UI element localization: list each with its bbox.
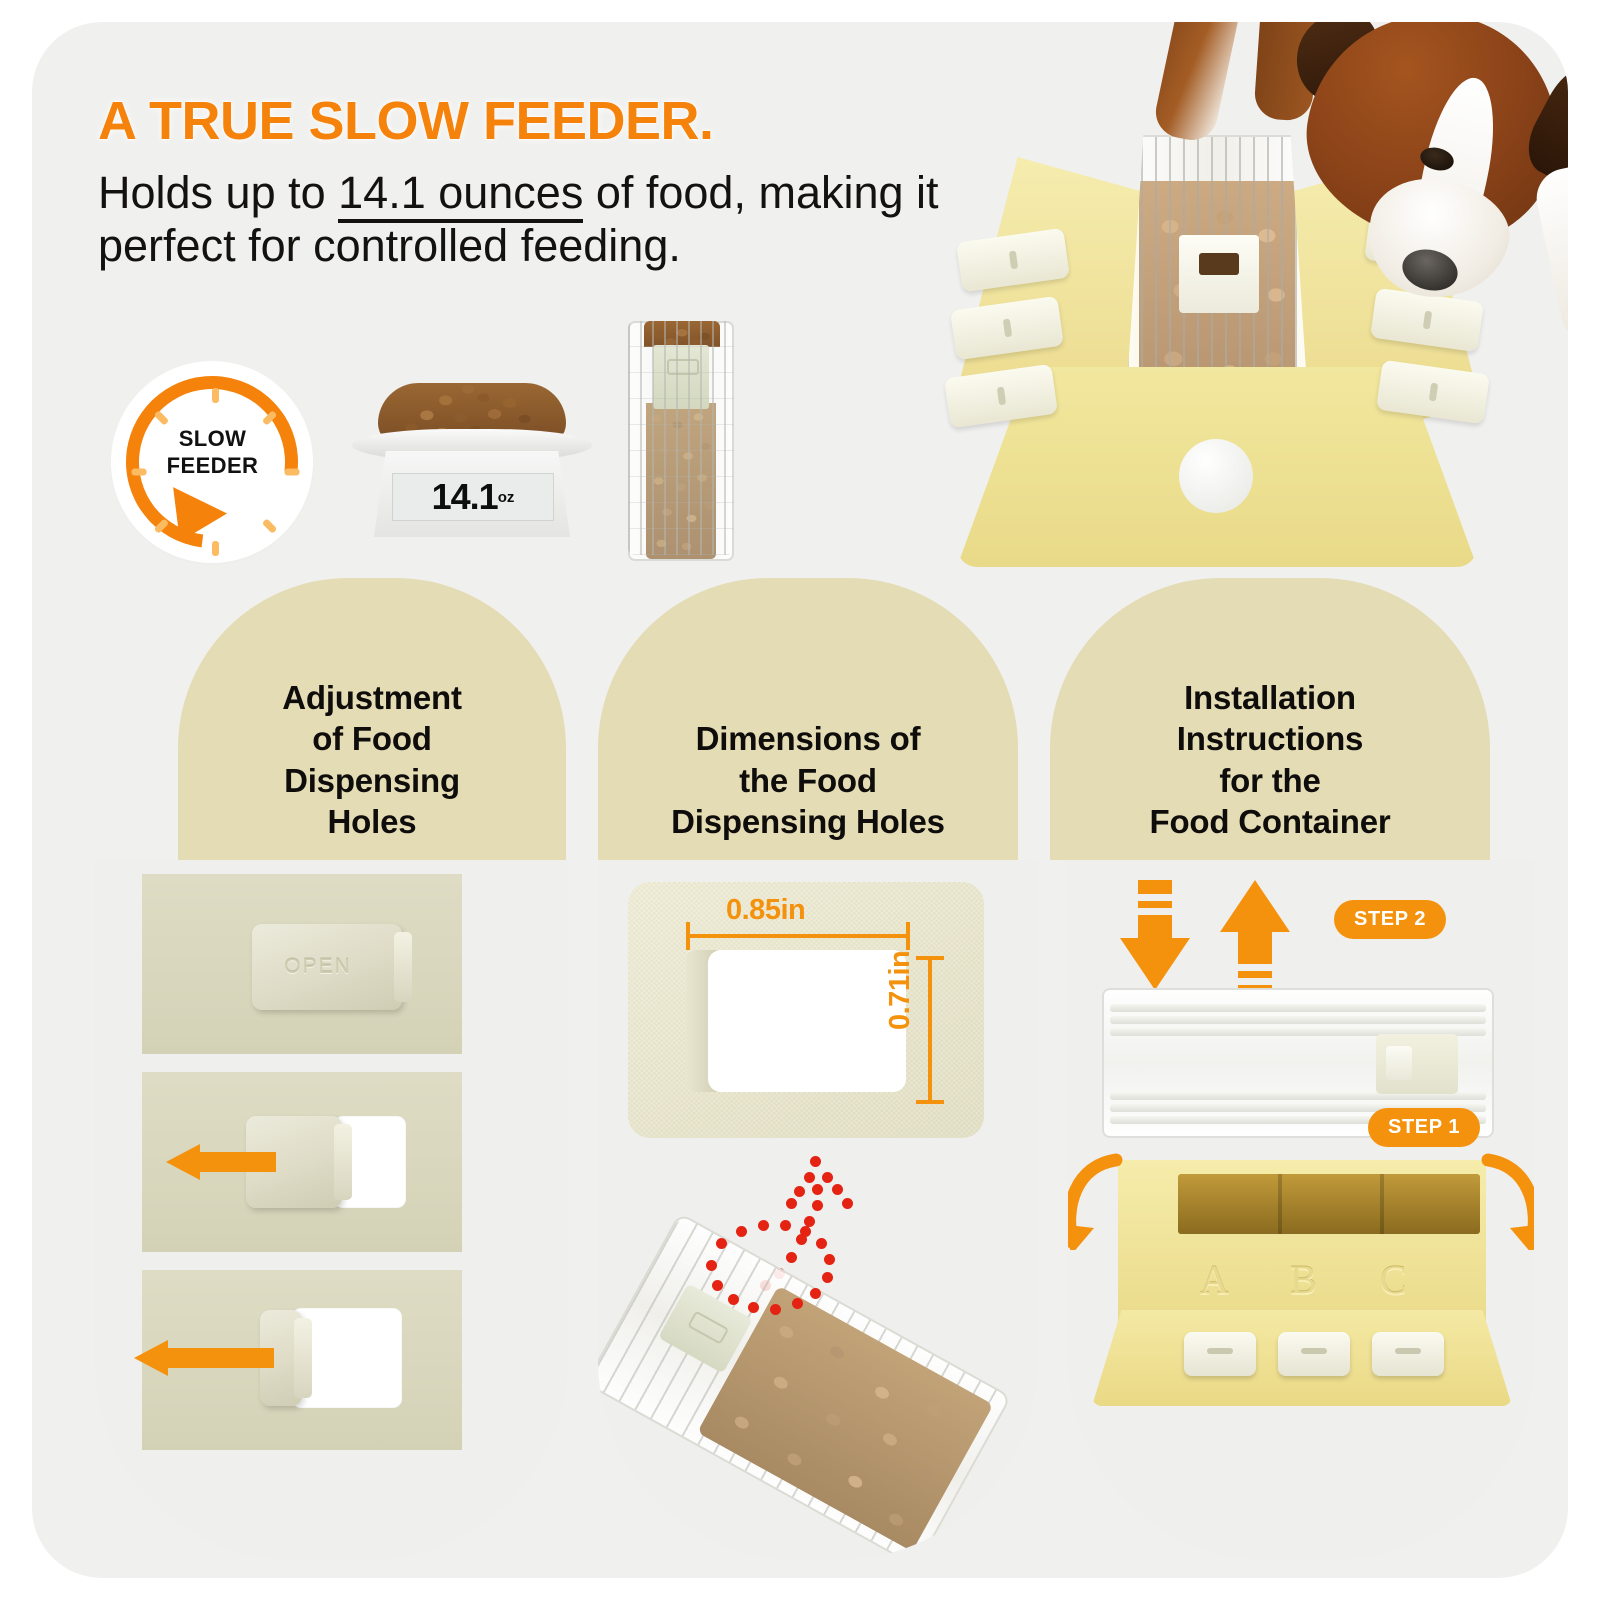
height-dim-tick: [916, 956, 944, 960]
slider-tab: [294, 1318, 312, 1398]
tray-letter-a: A: [1200, 1256, 1229, 1303]
clock-tick: [212, 541, 219, 556]
badge-label-line1: SLOW: [110, 426, 315, 453]
feeder-tray: A B C: [1092, 1160, 1512, 1410]
width-dimension-label: 0.85in: [726, 894, 805, 927]
container-door: [653, 345, 709, 409]
tray-slider-b: [1278, 1332, 1350, 1376]
tray-cavity: [1178, 1174, 1480, 1234]
adjustment-step-1: OPEN: [142, 874, 462, 1054]
arrow-shaft: [198, 1152, 276, 1172]
dog-photo: [1072, 22, 1568, 338]
infographic-card: A TRUE SLOW FEEDER. Holds up to 14.1 oun…: [32, 22, 1568, 1578]
remove-up-arrow-icon: [1220, 880, 1290, 990]
section-title: InstallationInstructionsfor theFood Cont…: [1149, 677, 1390, 842]
insert-down-arrow-icon: [1120, 880, 1190, 990]
arrow-stripe: [1138, 894, 1172, 901]
tray-letter-b: B: [1290, 1256, 1317, 1303]
arrow-head: [1220, 880, 1290, 932]
container-shell: [598, 1212, 1012, 1560]
badge-label-line2: FEEDER: [110, 453, 315, 480]
tray-letter-c: C: [1380, 1256, 1407, 1303]
arrow-shaft: [166, 1348, 274, 1368]
tray-slider-a: [1184, 1332, 1256, 1376]
arrow-head: [1120, 938, 1190, 990]
food-container-tilted: [608, 1160, 1028, 1540]
adjustment-step-2: [142, 1072, 462, 1252]
dog-leg: [1151, 22, 1243, 145]
detail-panels: OPEN: [32, 860, 1568, 1578]
section-title: Dimensions ofthe FoodDispensing Holes: [671, 718, 945, 842]
width-dim-tick: [686, 922, 690, 950]
slow-feeder-badge: SLOW FEEDER: [110, 364, 320, 579]
panel-adjustment: OPEN: [94, 860, 568, 1560]
subhead-capacity-underlined: 14.1 ounces: [338, 167, 583, 223]
section-header-installation: InstallationInstructionsfor theFood Cont…: [1050, 578, 1490, 860]
hole-closeup: 0.85in 0.71in: [628, 882, 984, 1138]
scale-weight-unit: oz: [498, 489, 515, 506]
step-2-badge: STEP 2: [1334, 900, 1446, 939]
slider-cover-closed: OPEN: [252, 924, 402, 1010]
subhead-pre: Holds up to: [98, 167, 338, 218]
arrow-stripe: [1238, 978, 1272, 985]
container-rib: [1110, 1016, 1486, 1024]
slide-direction-arrow: [166, 1144, 276, 1180]
scale-display: 14.1oz: [392, 473, 554, 521]
section-title: Adjustmentof FoodDispensingHoles: [282, 677, 462, 842]
section-headers: Adjustmentof FoodDispensingHoles Dimensi…: [32, 578, 1568, 860]
rotate-right-arrow-icon: [1460, 1146, 1534, 1250]
slide-direction-arrow: [134, 1340, 274, 1376]
tray-slider-c: [1372, 1332, 1444, 1376]
container-top-kibble: [644, 321, 720, 347]
kitchen-scale: 14.1oz: [352, 377, 592, 562]
clock-tick: [212, 388, 219, 403]
tray-divider: [1380, 1174, 1384, 1234]
width-dim-tick: [906, 922, 910, 950]
open-label: OPEN: [252, 955, 384, 979]
badge-label: SLOW FEEDER: [110, 426, 315, 480]
arrow-head: [166, 1144, 200, 1180]
feeder-knob: [1179, 439, 1253, 513]
height-dim-tick: [916, 1100, 944, 1104]
dispensing-hole-opening: [708, 950, 906, 1092]
arrow-stripe: [1238, 964, 1272, 971]
section-header-adjustment: Adjustmentof FoodDispensingHoles: [178, 578, 566, 860]
panel-dimensions: 0.85in 0.71in: [598, 860, 1038, 1560]
hero-section: A TRUE SLOW FEEDER. Holds up to 14.1 oun…: [32, 22, 1568, 577]
slider-tab: [334, 1124, 352, 1200]
scale-weight-value: 14.1: [432, 476, 498, 518]
container-rib: [1110, 1004, 1486, 1012]
height-dimension-label: 0.71in: [884, 951, 917, 1030]
step-1-badge: STEP 1: [1368, 1108, 1480, 1147]
height-dim-line: [928, 956, 932, 1104]
width-dim-line: [686, 934, 910, 938]
container-kibble-fill: [646, 403, 716, 559]
arrow-head: [134, 1340, 168, 1376]
section-header-dimensions: Dimensions ofthe FoodDispensing Holes: [598, 578, 1018, 860]
arrow-stripe: [1138, 908, 1172, 915]
tray-divider: [1278, 1174, 1282, 1234]
adjustment-step-3: [142, 1270, 462, 1450]
container-latch: [1376, 1034, 1458, 1094]
page-headline: A TRUE SLOW FEEDER.: [98, 90, 714, 152]
food-container-vertical: [620, 307, 742, 569]
hero-subheading: Holds up to 14.1 ounces of food, making …: [98, 167, 978, 272]
panel-installation: STEP 2 STEP 1 A B: [1068, 860, 1534, 1560]
rotate-left-arrow-icon: [1068, 1146, 1144, 1250]
slider-tab: [394, 932, 412, 1002]
